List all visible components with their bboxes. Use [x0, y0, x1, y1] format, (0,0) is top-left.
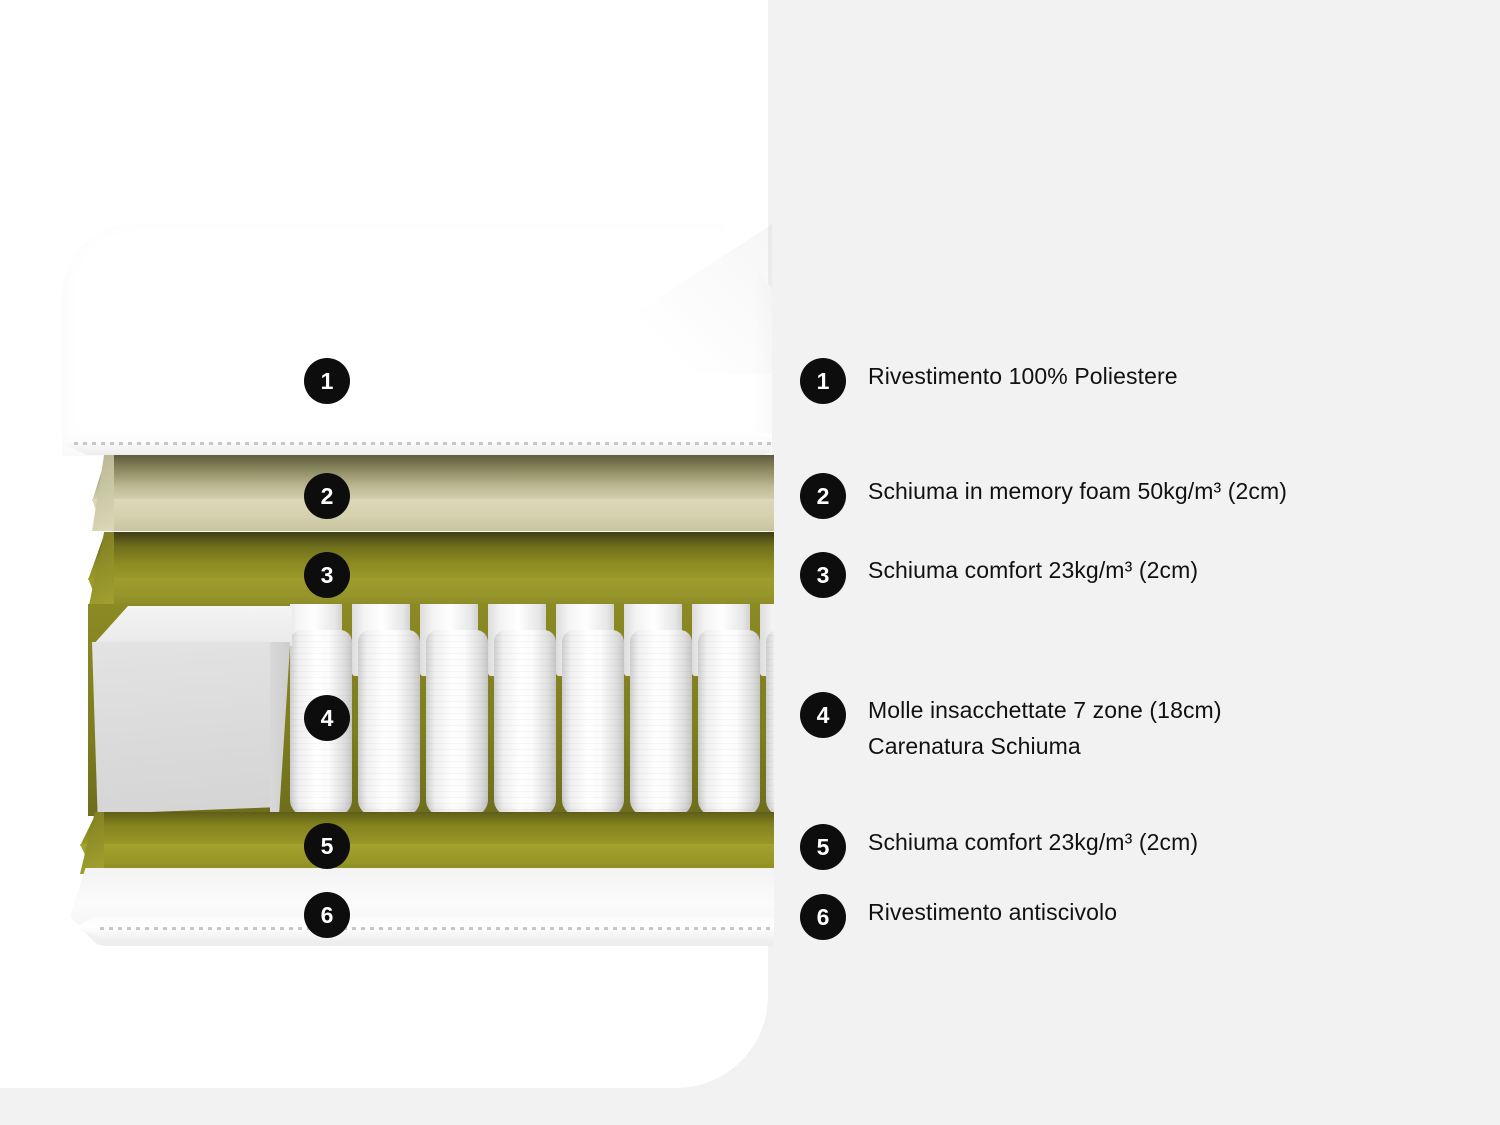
pocket-spring [358, 630, 420, 816]
pocket-spring [698, 630, 760, 816]
legend-badge-2: 2 [800, 473, 846, 519]
memory-foam-front-face [92, 499, 774, 531]
foam-surround-front-face [92, 642, 278, 814]
layer-legend: 1Rivestimento 100% Poliestere2Schiuma in… [800, 0, 1500, 1125]
layer-2-memory-foam [92, 455, 774, 531]
legend-label-1: Rivestimento 100% Poliestere [868, 358, 1178, 394]
legend-badge-4: 4 [800, 692, 846, 738]
image-badge-3: 3 [304, 552, 350, 598]
layer-3-comfort-foam [88, 532, 774, 610]
legend-row-2: 2Schiuma in memory foam 50kg/m³ (2cm) [800, 473, 1287, 519]
pocket-spring [494, 630, 556, 816]
legend-row-6: 6Rivestimento antiscivolo [800, 894, 1117, 940]
image-badge-5: 5 [304, 823, 350, 869]
foam-surround-top-face [92, 606, 292, 646]
legend-label-4: Molle insacchettate 7 zone (18cm) Carena… [868, 692, 1222, 764]
legend-label-6: Rivestimento antiscivolo [868, 894, 1117, 930]
pocket-spring [426, 630, 488, 816]
layer-4-pocket-springs [88, 604, 774, 816]
image-badge-2: 2 [304, 473, 350, 519]
image-badge-4: 4 [304, 695, 350, 741]
legend-label-5: Schiuma comfort 23kg/m³ (2cm) [868, 824, 1198, 860]
mattress-layers-diagram: 123456 1Rivestimento 100% Poliestere2Sch… [0, 0, 1500, 1125]
legend-badge-5: 5 [800, 824, 846, 870]
pocket-spring [630, 630, 692, 816]
legend-row-5: 5Schiuma comfort 23kg/m³ (2cm) [800, 824, 1198, 870]
bottom-cover-stitched-edge [74, 916, 774, 940]
legend-badge-1: 1 [800, 358, 846, 404]
layer-1-top-cover [62, 224, 772, 456]
legend-badge-6: 6 [800, 894, 846, 940]
memory-foam-top-face [92, 455, 774, 501]
legend-row-3: 3Schiuma comfort 23kg/m³ (2cm) [800, 552, 1198, 598]
pocket-spring-row [290, 604, 774, 816]
bottom-comfort-foam-top-face [80, 812, 774, 846]
pocket-spring [766, 630, 774, 816]
layer-5-comfort-foam [80, 812, 774, 874]
legend-row-4: 4Molle insacchettate 7 zone (18cm) Caren… [800, 692, 1222, 764]
pocket-spring [562, 630, 624, 816]
image-badge-1: 1 [304, 358, 350, 404]
foam-surround-block [92, 606, 292, 814]
legend-row-1: 1Rivestimento 100% Poliestere [800, 358, 1178, 404]
legend-label-2: Schiuma in memory foam 50kg/m³ (2cm) [868, 473, 1287, 509]
legend-badge-3: 3 [800, 552, 846, 598]
top-cover-stitched-edge [66, 433, 772, 455]
legend-label-3: Schiuma comfort 23kg/m³ (2cm) [868, 552, 1198, 588]
image-badge-6: 6 [304, 892, 350, 938]
mattress-cutaway-illustration: 123456 [0, 0, 800, 1125]
comfort-foam-top-face [88, 532, 774, 580]
